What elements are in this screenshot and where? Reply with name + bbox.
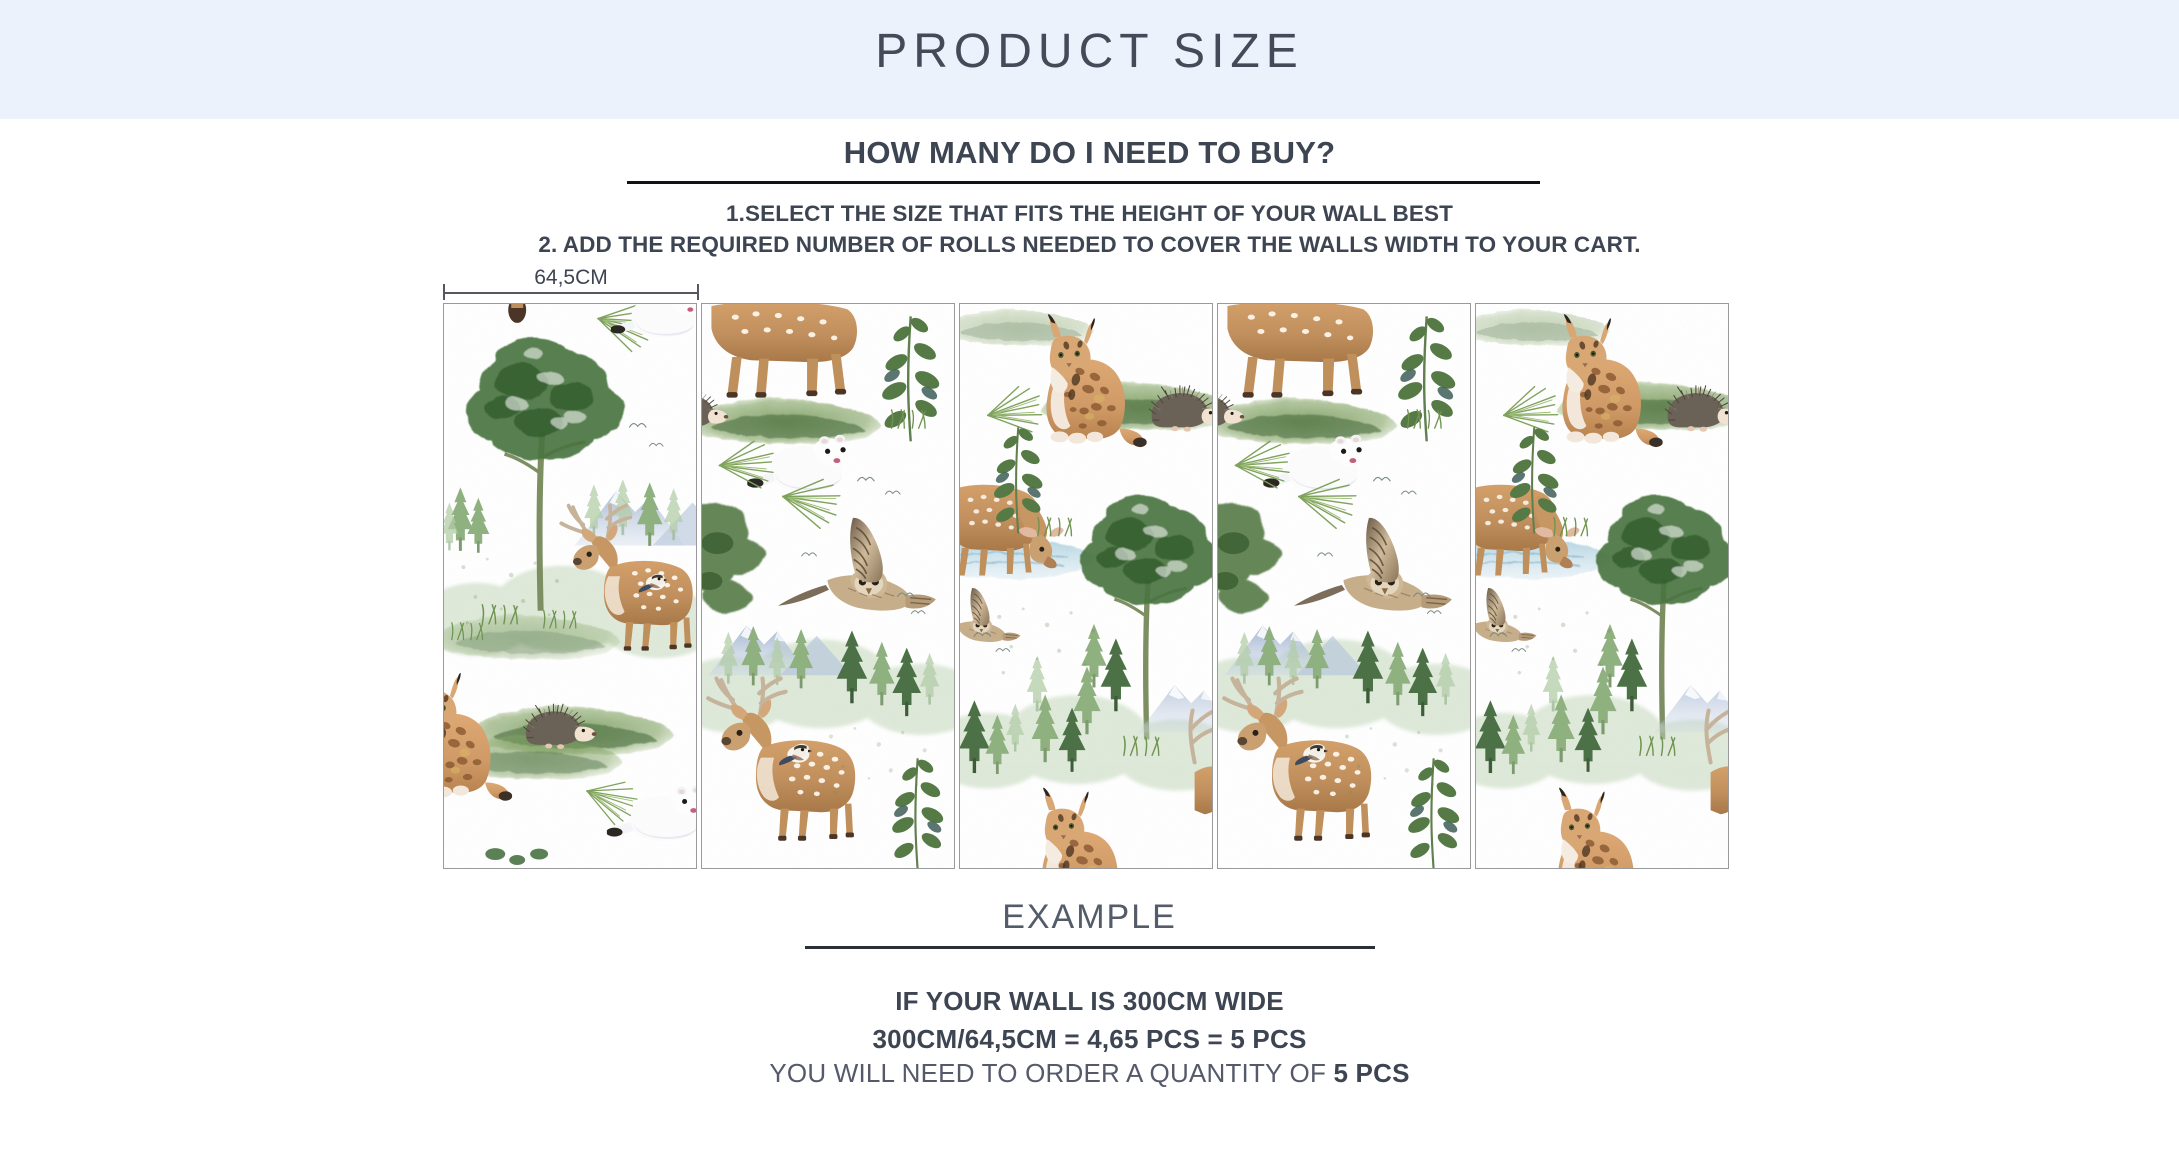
wallpaper-panel-2[interactable] — [701, 303, 955, 869]
dimension-tick-left — [443, 284, 445, 300]
section-heading-how-many: HOW MANY DO I NEED TO BUY? — [0, 135, 2179, 171]
order-quantity-statement: YOU WILL NEED TO ORDER A QUANTITY OF 5 P… — [0, 1058, 2179, 1089]
order-quantity-value: 5 PCS — [1333, 1058, 1409, 1088]
example-line-wall-width: IF YOUR WALL IS 300CM WIDE — [0, 982, 2179, 1020]
dimension-tick-right — [697, 284, 699, 300]
heading-divider — [627, 181, 1540, 184]
page-title: PRODUCT SIZE — [0, 24, 2179, 79]
wallpaper-panel-4[interactable] — [1217, 303, 1471, 869]
order-quantity-prefix: YOU WILL NEED TO ORDER A QUANTITY OF — [769, 1058, 1333, 1088]
wallpaper-pattern-variant-a — [444, 304, 696, 868]
wallpaper-pattern-variant-b — [1218, 304, 1470, 868]
example-heading: EXAMPLE — [0, 898, 2179, 937]
example-calculation: IF YOUR WALL IS 300CM WIDE 300CM/64,5CM … — [0, 982, 2179, 1058]
wallpaper-panel-3[interactable] — [959, 303, 1213, 869]
instruction-step-1: 1.SELECT THE SIZE THAT FITS THE HEIGHT O… — [0, 198, 2179, 229]
wallpaper-panel-5[interactable] — [1475, 303, 1729, 869]
wallpaper-panel-1[interactable] — [443, 303, 697, 869]
wallpaper-pattern-variant-c — [960, 304, 1212, 868]
instruction-step-2: 2. ADD THE REQUIRED NUMBER OF ROLLS NEED… — [0, 229, 2179, 260]
panel-width-label: 64,5CM — [443, 266, 699, 290]
wallpaper-pattern-variant-b — [702, 304, 954, 868]
example-divider — [805, 946, 1375, 949]
dimension-line — [443, 292, 699, 294]
wallpaper-panel-strip — [443, 303, 1736, 869]
example-line-formula: 300CM/64,5CM = 4,65 PCS = 5 PCS — [0, 1020, 2179, 1058]
wallpaper-pattern-variant-c — [1476, 304, 1728, 868]
instruction-list: 1.SELECT THE SIZE THAT FITS THE HEIGHT O… — [0, 198, 2179, 260]
